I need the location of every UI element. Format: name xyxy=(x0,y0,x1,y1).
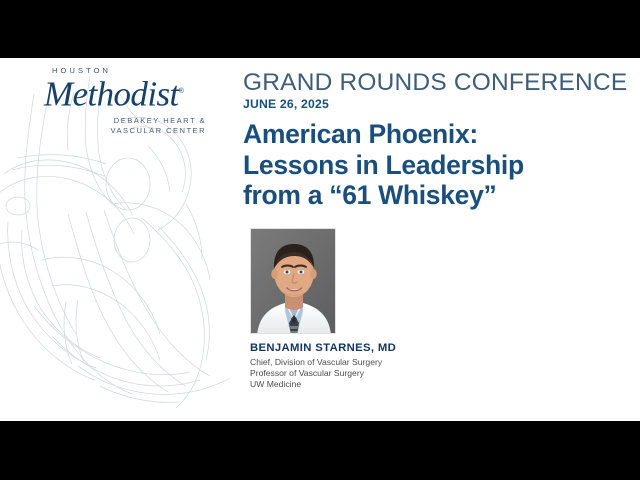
title-line-3: from a “61 Whiskey” xyxy=(243,180,633,211)
speaker-credentials: Chief, Division of Vascular Surgery Prof… xyxy=(250,357,610,391)
letterbox-bar-top xyxy=(0,0,640,58)
title-line-2: Lessons in Leadership xyxy=(243,150,633,181)
title-line-1: American Phoenix: xyxy=(243,119,633,150)
speaker-block: BENJAMIN STARNES, MD Chief, Division of … xyxy=(250,228,610,391)
speaker-name: BENJAMIN STARNES, MD xyxy=(250,342,610,354)
logo-subtitle: DEBAKEY HEART & VASCULAR CENTER xyxy=(44,116,206,137)
letterbox-bar-bottom xyxy=(0,421,640,480)
presentation-slide: HOUSTON Methodist® DEBAKEY HEART & VASCU… xyxy=(0,58,640,421)
video-frame: HOUSTON Methodist® DEBAKEY HEART & VASCU… xyxy=(0,0,640,480)
houston-methodist-logo: HOUSTON Methodist® DEBAKEY HEART & VASCU… xyxy=(44,66,204,137)
slide-content-column: GRAND ROUNDS CONFERENCE JUNE 26, 2025 Am… xyxy=(243,58,633,421)
page-title: American Phoenix: Lessons in Leadership … xyxy=(243,119,633,211)
conference-eyebrow-heading: GRAND ROUNDS CONFERENCE xyxy=(243,70,633,96)
speaker-credential-line-1: Chief, Division of Vascular Surgery xyxy=(250,357,610,368)
logo-methodist-text: Methodist xyxy=(44,75,179,114)
avatar xyxy=(251,229,336,334)
speaker-credential-line-3: UW Medicine xyxy=(250,379,610,390)
speaker-credential-line-2: Professor of Vascular Surgery xyxy=(250,368,610,379)
logo-subtitle-line-1: DEBAKEY HEART & xyxy=(44,116,206,127)
logo-methodist-wordmark: Methodist® xyxy=(44,73,204,114)
logo-subtitle-line-2: VASCULAR CENTER xyxy=(44,126,206,137)
registered-trademark-icon: ® xyxy=(179,88,184,95)
event-date: JUNE 26, 2025 xyxy=(243,97,633,111)
speaker-headshot-photo xyxy=(250,228,336,334)
